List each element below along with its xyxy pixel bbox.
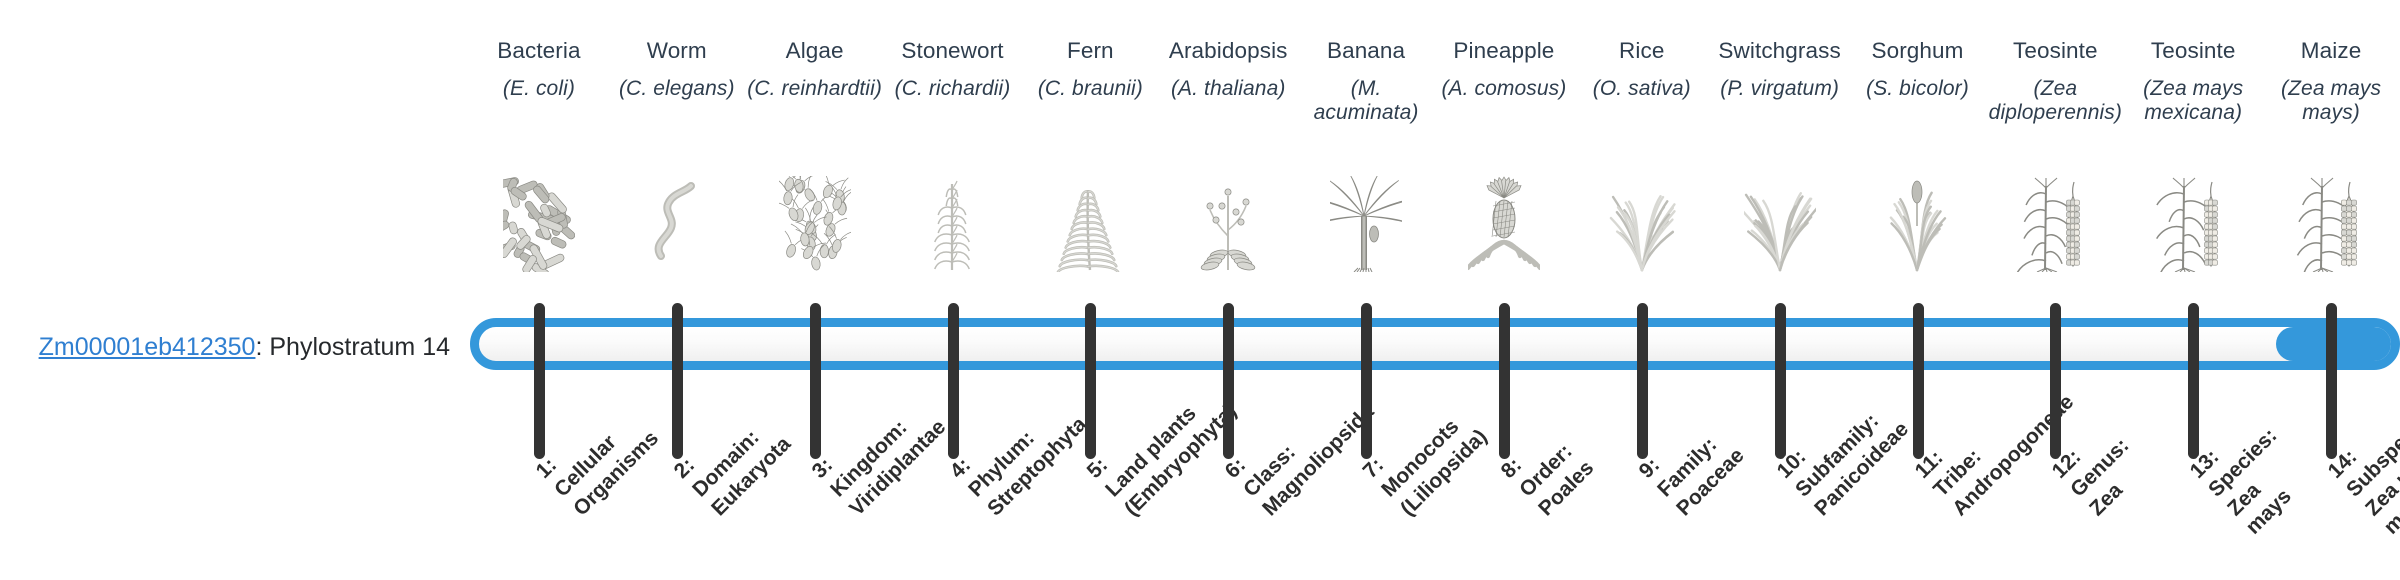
organism-header: Maize(Zea mays mays) (2262, 38, 2400, 126)
phylostratum-tick-9[interactable] (1637, 303, 1648, 459)
stonewort-alga-icon (884, 172, 1022, 272)
organism-common-name: Banana (1297, 38, 1435, 65)
organism-header: Switchgrass(P. virgatum) (1711, 38, 1849, 101)
switchgrass-plant-icon (1711, 172, 1849, 272)
organism-header: Rice(O. sativa) (1573, 38, 1711, 101)
organism-scientific-name: (Zea mays mexicana) (2124, 77, 2262, 127)
organism-scientific-name: (P. virgatum) (1711, 77, 1849, 102)
phylostratum-tick-14[interactable] (2326, 303, 2337, 459)
organism-common-name: Stonewort (884, 38, 1022, 65)
organism-scientific-name: (C. richardii) (884, 77, 1022, 102)
gene-phylostratum-label: Zm00001eb412350: Phylostratum 14 (0, 334, 450, 362)
phylostratum-track-fill (2276, 327, 2400, 361)
organism-common-name: Maize (2262, 38, 2400, 65)
phylostratum-track-wrapper (470, 318, 2400, 370)
arabidopsis-plant-icon (1159, 172, 1297, 272)
pineapple-plant-icon (1435, 172, 1573, 272)
organism-header: Fern(C. braunii) (1021, 38, 1159, 101)
organism-common-name: Worm (608, 38, 746, 65)
nematode-worm-icon (608, 172, 746, 272)
fern-frond-icon (1021, 172, 1159, 272)
organism-header: Algae(C. reinhardtii) (746, 38, 884, 101)
phylostratum-tick-2[interactable] (672, 303, 683, 459)
organism-common-name: Arabidopsis (1159, 38, 1297, 65)
organism-scientific-name: (O. sativa) (1573, 77, 1711, 102)
phylostratum-tick-5[interactable] (1085, 303, 1096, 459)
organism-header: Bacteria(E. coli) (470, 38, 608, 101)
organism-common-name: Teosinte (2124, 38, 2262, 65)
maize-plant-and-cob-icon (2262, 172, 2400, 272)
organism-common-name: Teosinte (1986, 38, 2124, 65)
organism-common-name: Switchgrass (1711, 38, 1849, 65)
organism-header: Teosinte(Zea diploperennis) (1986, 38, 2124, 126)
green-algae-cells-icon (746, 172, 884, 272)
organism-common-name: Fern (1021, 38, 1159, 65)
phylostratum-track[interactable] (470, 318, 2400, 370)
phylostratum-tick-11[interactable] (1913, 303, 1924, 459)
sorghum-plant-icon (1849, 172, 1987, 272)
phylostratum-tick-4[interactable] (948, 303, 959, 459)
organism-scientific-name: (M. acuminata) (1297, 77, 1435, 127)
organism-common-name: Rice (1573, 38, 1711, 65)
phylostratum-tick-10[interactable] (1775, 303, 1786, 459)
organism-header: Worm(C. elegans) (608, 38, 746, 101)
organism-scientific-name: (A. comosus) (1435, 77, 1573, 102)
organism-scientific-name: (A. thaliana) (1159, 77, 1297, 102)
organism-header: Banana(M. acuminata) (1297, 38, 1435, 126)
organism-header: Sorghum(S. bicolor) (1849, 38, 1987, 101)
phylostratum-tick-6[interactable] (1223, 303, 1234, 459)
organism-scientific-name: (S. bicolor) (1849, 77, 1987, 102)
organism-common-name: Pineapple (1435, 38, 1573, 65)
organism-header: Stonewort(C. richardii) (884, 38, 1022, 101)
phylostratum-tick-7[interactable] (1361, 303, 1372, 459)
label-separator: : (255, 333, 269, 361)
phylostratum-tick-8[interactable] (1499, 303, 1510, 459)
organism-header: Arabidopsis(A. thaliana) (1159, 38, 1297, 101)
phylostratum-tick-12[interactable] (2050, 303, 2061, 459)
teosinte-mexicana-plant-and-ear-icon (2124, 172, 2262, 272)
organism-scientific-name: (Zea diploperennis) (1986, 77, 2124, 127)
organism-scientific-name: (Zea mays mays) (2262, 77, 2400, 127)
organism-common-name: Algae (746, 38, 884, 65)
bacteria-rods-icon (470, 172, 608, 272)
phylostratum-tick-3[interactable] (810, 303, 821, 459)
organism-header: Pineapple(A. comosus) (1435, 38, 1573, 101)
banana-plant-icon (1297, 172, 1435, 272)
phylostratum-tick-1[interactable] (534, 303, 545, 459)
organism-scientific-name: (C. reinhardtii) (746, 77, 884, 102)
organism-scientific-name: (C. braunii) (1021, 77, 1159, 102)
rice-plant-icon (1573, 172, 1711, 272)
organism-scientific-name: (E. coli) (470, 77, 608, 102)
gene-accession-link[interactable]: Zm00001eb412350 (39, 333, 256, 361)
phylostratum-value: Phylostratum 14 (269, 333, 450, 361)
phylostratum-figure: Zm00001eb412350: Phylostratum 14 Bacteri… (0, 0, 2400, 580)
teosinte-plant-and-ear-icon (1986, 172, 2124, 272)
organism-common-name: Bacteria (470, 38, 608, 65)
organism-scientific-name: (C. elegans) (608, 77, 746, 102)
organism-common-name: Sorghum (1849, 38, 1987, 65)
phylostratum-tick-13[interactable] (2188, 303, 2199, 459)
organism-header: Teosinte(Zea mays mexicana) (2124, 38, 2262, 126)
